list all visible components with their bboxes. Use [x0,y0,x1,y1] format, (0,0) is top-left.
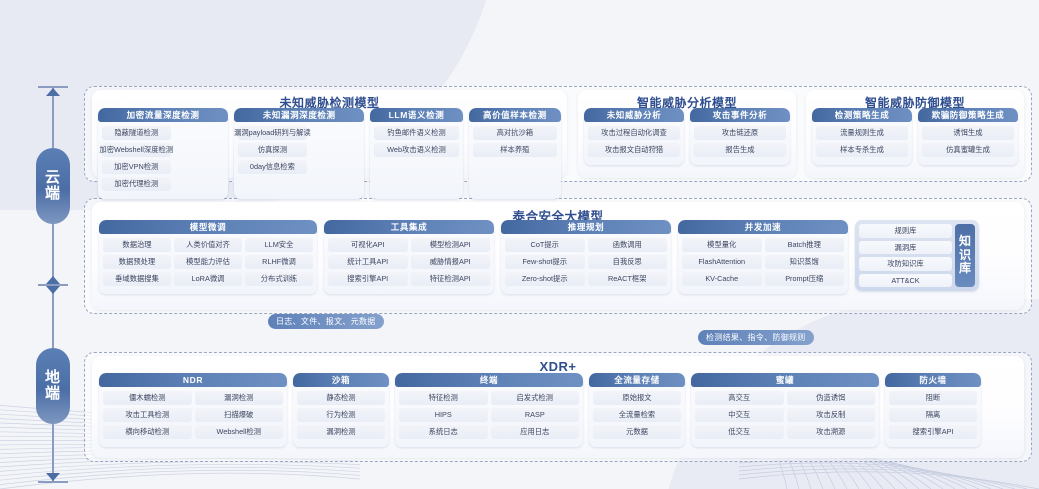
group-header: 推理规划 [501,220,671,234]
layer-label-ground-char-1: 端 [45,386,61,402]
cell-item[interactable]: 静态检测 [297,391,385,405]
cell-item[interactable]: 特征检测 [399,391,488,405]
group-推理规划[interactable]: 推理规划CoT提示函数调用Few-shot提示自我反思Zero-shot提示Re… [501,220,671,294]
cell-item[interactable]: 中交互 [695,408,784,422]
platform-groups-row: 模型微调数据治理人类价值对齐LLM安全数据预处理模型能力评估RLHF微调垂域数据… [92,220,1024,294]
cell-item[interactable]: 诱饵生成 [922,126,1014,140]
cell-item[interactable]: 搜索引擎API [889,425,977,439]
group-cells: 特征检测启发式检测HIPSRASP系统日志应用日志 [395,387,583,443]
group-cells: 可视化API模型检测API统计工具API威胁情报API搜索引擎API特征检测AP… [324,234,494,290]
cell-item[interactable]: 元数据 [593,425,681,439]
cell-item[interactable]: 加密Webshell深度检测 [102,143,171,157]
cell-item[interactable]: 垂域数据搜集 [103,272,171,286]
group-header: 蜜罐 [691,373,879,387]
cell-item[interactable]: 0day信息检索 [238,160,307,174]
cell-item[interactable]: 人类价值对齐 [174,238,242,252]
cell-item[interactable]: 应用日志 [491,425,580,439]
group-检测策略生成[interactable]: 检测策略生成流量规则生成样本专杀生成 [812,108,912,165]
cell-item[interactable]: 扫描爆破 [195,408,284,422]
group-cells: CoT提示函数调用Few-shot提示自我反思Zero-shot提示ReACT框… [501,234,671,290]
group-cells: 模型量化Batch推理FlashAttention知识蒸馏KV-CachePro… [678,234,848,290]
group-header: 高价值样本检测 [469,108,561,122]
knowledge-base-item[interactable]: ATT&CK [859,274,952,288]
cell-item[interactable]: 威胁情报API [411,255,491,269]
flow-tag-upstream: 日志、文件、报文、元数据 [268,314,384,329]
cell-item[interactable]: 可视化API [328,238,408,252]
group-header: 攻击事件分析 [690,108,790,122]
panel-title: 泰合安全大模型 [92,202,1024,220]
cell-item[interactable]: Web攻击语义检测 [374,143,458,157]
group-cells: 漏洞payload研判与解读仿真探测0day信息检索 [234,122,364,178]
ground-groups-row: NDR僵木蠕检测漏洞检测攻击工具检测扫描爆破横向移动检测Webshell检测沙箱… [92,373,1024,447]
cell-item[interactable]: 搜索引擎API [328,272,408,286]
group-cells: 阻断隔离搜索引擎API [885,387,981,443]
cell-item[interactable]: 仿真蜜罐生成 [922,143,1014,157]
panel-title: 智能威胁防御模型 [806,90,1024,108]
rail-arrow-up-top [46,88,60,96]
group-未知漏洞深度检测[interactable]: 未知漏洞深度检测漏洞payload研判与解读仿真探测0day信息检索 [234,108,364,199]
cell-item[interactable]: FlashAttention [682,255,762,269]
panel-title: XDR+ [92,356,1024,373]
rail-cap-bottom [38,481,68,483]
group-header: 防火墙 [885,373,981,387]
panel-groups-row: 加密流量深度检测隐蔽隧道检测加密Webshell深度检测加密VPN检测加密代理检… [92,108,567,199]
group-工具集成[interactable]: 工具集成可视化API模型检测API统计工具API威胁情报API搜索引擎API特征… [324,220,494,294]
knowledge-base-items: 规则库漏洞库攻防知识库ATT&CK [859,224,952,287]
group-LLM语义检测[interactable]: LLM语义检测钓鱼邮件语义检测Web攻击语义检测 [370,108,462,199]
diagram-stage: 云 端 地 端 日志、文件、报文、元数据 检测结果、指令、防御规则 未知威胁检测… [0,0,1039,489]
group-并发加速[interactable]: 并发加速模型量化Batch推理FlashAttention知识蒸馏KV-Cach… [678,220,848,294]
cell-item[interactable]: 攻击过程自动化调查 [588,126,680,140]
cell-item[interactable]: 高对抗沙箱 [473,126,557,140]
cell-item[interactable]: 函数调用 [588,238,668,252]
group-加密流量深度检测[interactable]: 加密流量深度检测隐蔽隧道检测加密Webshell深度检测加密VPN检测加密代理检… [98,108,228,199]
cell-item[interactable]: 启发式检测 [491,391,580,405]
cell-item[interactable]: 系统日志 [399,425,488,439]
group-NDR[interactable]: NDR僵木蠕检测漏洞检测攻击工具检测扫描爆破横向移动检测Webshell检测 [99,373,287,447]
cell-item[interactable]: 横向移动检测 [103,425,192,439]
cell-item[interactable]: CoT提示 [505,238,585,252]
layer-axis-rail: 云 端 地 端 [30,86,76,483]
group-终端[interactable]: 终端特征检测启发式检测HIPSRASP系统日志应用日志 [395,373,583,447]
group-cells: 隐蔽隧道检测加密Webshell深度检测加密VPN检测加密代理检测 [98,122,228,195]
cell-item[interactable]: 原始报文 [593,391,681,405]
group-cells: 攻击过程自动化调查攻击报文自动狩猎 [584,122,684,161]
cell-item[interactable]: ReACT框架 [588,272,668,286]
cell-item[interactable]: 漏洞检测 [195,391,284,405]
group-header: 沙箱 [293,373,389,387]
panel-groups-row: 检测策略生成流量规则生成样本专杀生成欺骗防御策略生成诱饵生成仿真蜜罐生成 [806,108,1024,165]
panel-xdr-plus: XDR+NDR僵木蠕检测漏洞检测攻击工具检测扫描爆破横向移动检测Webshell… [92,356,1024,458]
panel-智能威胁分析模型: 智能威胁分析模型未知威胁分析攻击过程自动化调查攻击报文自动狩猎攻击事件分析攻击链… [578,90,796,178]
cell-item[interactable]: 阻断 [889,391,977,405]
group-cells: 诱饵生成仿真蜜罐生成 [918,122,1018,161]
panel-title: 未知威胁检测模型 [92,90,567,108]
group-高价值样本检测[interactable]: 高价值样本检测高对抗沙箱样本养殖 [469,108,561,199]
group-防火墙[interactable]: 防火墙阻断隔离搜索引擎API [885,373,981,447]
cell-item[interactable]: 低交互 [695,425,784,439]
cell-item[interactable]: 攻击链还原 [694,126,786,140]
panel-security-llm: 泰合安全大模型模型微调数据治理人类价值对齐LLM安全数据预处理模型能力评估RLH… [92,202,1024,310]
cell-item[interactable]: 加密VPN检测 [102,160,171,174]
rail-arrow-down-middle [46,286,60,294]
group-header: 全流量存储 [589,373,685,387]
cell-item[interactable]: 仿真探测 [238,143,307,157]
rail-arrow-up-middle [46,276,60,284]
cell-item[interactable]: RASP [491,408,580,422]
knowledge-base[interactable]: 规则库漏洞库攻防知识库ATT&CK知识库 [855,220,979,291]
knowledge-base-side-char: 知 [959,235,971,248]
group-header: 检测策略生成 [812,108,912,122]
group-攻击事件分析[interactable]: 攻击事件分析攻击链还原报告生成 [690,108,790,165]
cell-item[interactable]: 隐蔽隧道检测 [102,126,171,140]
group-欺骗防御策略生成[interactable]: 欺骗防御策略生成诱饵生成仿真蜜罐生成 [918,108,1018,165]
group-cells: 高交互伪造诱饵中交互攻击反制低交互攻击溯源 [691,387,879,443]
layer-label-cloud-char-0: 云 [45,170,61,186]
cell-item[interactable]: 分布式训练 [245,272,313,286]
cell-item[interactable]: 自我反思 [588,255,668,269]
cell-item[interactable]: 僵木蠕检测 [103,391,192,405]
group-header: 终端 [395,373,583,387]
group-cells: 攻击链还原报告生成 [690,122,790,161]
layer-label-ground: 地 端 [36,348,70,424]
group-cells: 数据治理人类价值对齐LLM安全数据预处理模型能力评估RLHF微调垂域数据搜集Lo… [99,234,317,290]
panel-title: 智能威胁分析模型 [578,90,796,108]
flow-tag-downstream: 检测结果、指令、防御规则 [698,330,814,345]
cell-item[interactable]: RLHF微调 [245,255,313,269]
panel-groups-row: 未知威胁分析攻击过程自动化调查攻击报文自动狩猎攻击事件分析攻击链还原报告生成 [578,108,796,165]
cell-item[interactable]: 攻击报文自动狩猎 [588,143,680,157]
cell-item[interactable]: LLM安全 [245,238,313,252]
group-cells: 高对抗沙箱样本养殖 [469,122,561,161]
group-header: 加密流量深度检测 [98,108,228,122]
group-header: 未知威胁分析 [584,108,684,122]
cell-item[interactable]: 特征检测API [411,272,491,286]
cell-item[interactable]: 全流量检索 [593,408,681,422]
layer-label-cloud: 云 端 [36,148,70,224]
knowledge-base-side-label: 知识库 [955,224,975,287]
cell-item[interactable]: 模型量化 [682,238,762,252]
cell-item[interactable]: 模型能力评估 [174,255,242,269]
cell-item[interactable]: 报告生成 [694,143,786,157]
group-蜜罐[interactable]: 蜜罐高交互伪造诱饵中交互攻击反制低交互攻击溯源 [691,373,879,447]
group-cells: 静态检测行为检测漏洞检测 [293,387,389,443]
cell-item[interactable]: 模型检测API [411,238,491,252]
cell-item[interactable]: 统计工具API [328,255,408,269]
group-header: 工具集成 [324,220,494,234]
cell-item[interactable]: 行为检测 [297,408,385,422]
group-cells: 流量规则生成样本专杀生成 [812,122,912,161]
cell-item[interactable]: KV-Cache [682,272,762,286]
group-沙箱[interactable]: 沙箱静态检测行为检测漏洞检测 [293,373,389,447]
group-cells: 钓鱼邮件语义检测Web攻击语义检测 [370,122,462,161]
cell-item[interactable]: 知识蒸馏 [765,255,845,269]
cell-item[interactable]: HIPS [399,408,488,422]
rail-arrow-down-bottom [46,473,60,481]
cell-item[interactable]: 流量规则生成 [816,126,908,140]
cell-item[interactable]: 隔离 [889,408,977,422]
knowledge-base-item[interactable]: 规则库 [859,224,952,238]
cell-item[interactable]: 漏洞检测 [297,425,385,439]
cell-item[interactable]: 伪造诱饵 [787,391,876,405]
cell-item[interactable]: 高交互 [695,391,784,405]
cell-item[interactable]: 攻击溯源 [787,425,876,439]
cell-item[interactable]: Few-shot提示 [505,255,585,269]
knowledge-base-item[interactable]: 攻防知识库 [859,257,952,271]
group-header: 并发加速 [678,220,848,234]
cell-item[interactable]: 攻击工具检测 [103,408,192,422]
cell-item[interactable]: Batch推理 [765,238,845,252]
cell-item[interactable]: 样本养殖 [473,143,557,157]
group-header: NDR [99,373,287,387]
cell-item[interactable]: 加密代理检测 [102,177,171,191]
knowledge-base-item[interactable]: 漏洞库 [859,241,952,255]
cell-item[interactable]: Webshell检测 [195,425,284,439]
cell-item[interactable]: 数据治理 [103,238,171,252]
cell-item[interactable]: Zero-shot提示 [505,272,585,286]
cell-item[interactable]: 钓鱼邮件语义检测 [374,126,458,140]
cell-item[interactable]: Prompt压缩 [765,272,845,286]
panel-未知威胁检测模型: 未知威胁检测模型加密流量深度检测隐蔽隧道检测加密Webshell深度检测加密VP… [92,90,567,178]
group-header: 欺骗防御策略生成 [918,108,1018,122]
cell-item[interactable]: LoRA微调 [174,272,242,286]
group-未知威胁分析[interactable]: 未知威胁分析攻击过程自动化调查攻击报文自动狩猎 [584,108,684,165]
cell-item[interactable]: 样本专杀生成 [816,143,908,157]
group-全流量存储[interactable]: 全流量存储原始报文全流量检索元数据 [589,373,685,447]
cell-item[interactable]: 攻击反制 [787,408,876,422]
group-模型微调[interactable]: 模型微调数据治理人类价值对齐LLM安全数据预处理模型能力评估RLHF微调垂域数据… [99,220,317,294]
panel-智能威胁防御模型: 智能威胁防御模型检测策略生成流量规则生成样本专杀生成欺骗防御策略生成诱饵生成仿真… [806,90,1024,178]
group-header: 模型微调 [99,220,317,234]
group-header: LLM语义检测 [370,108,462,122]
layer-label-ground-char-0: 地 [45,370,61,386]
group-cells: 僵木蠕检测漏洞检测攻击工具检测扫描爆破横向移动检测Webshell检测 [99,387,287,443]
group-cells: 原始报文全流量检索元数据 [589,387,685,443]
knowledge-base-side-char: 库 [959,262,971,275]
group-header: 未知漏洞深度检测 [234,108,364,122]
cell-item[interactable]: 漏洞payload研判与解读 [238,126,307,140]
cell-item[interactable]: 数据预处理 [103,255,171,269]
layer-label-cloud-char-1: 端 [45,186,61,202]
